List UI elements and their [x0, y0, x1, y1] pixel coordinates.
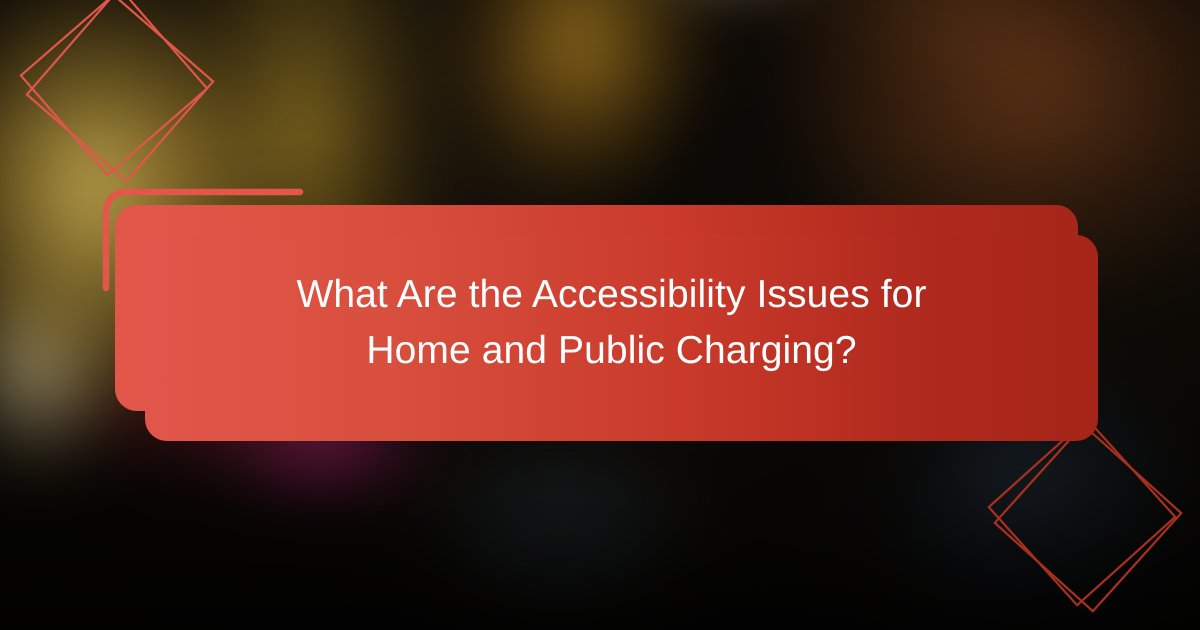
title-card-text-area: What Are the Accessibility Issues for Ho…: [145, 205, 1078, 441]
share-card-canvas: What Are the Accessibility Issues for Ho…: [0, 0, 1200, 630]
page-title: What Are the Accessibility Issues for Ho…: [252, 267, 972, 379]
title-card: What Are the Accessibility Issues for Ho…: [0, 0, 1200, 630]
